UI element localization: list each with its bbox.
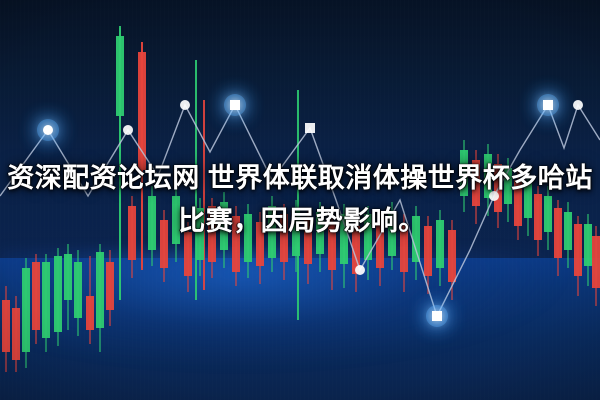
node-marker-square — [230, 100, 240, 110]
node-marker-circle — [43, 125, 53, 135]
node-network-chart — [0, 0, 600, 400]
stock-news-banner: 资深配资论坛网 世界体联取消体操世界杯多哈站 比赛，因局势影响。 — [0, 0, 600, 400]
node-marker-circle — [489, 191, 499, 201]
node-marker-circle — [573, 100, 583, 110]
node-marker-group — [37, 94, 583, 327]
node-marker-square — [432, 311, 442, 321]
zigzag-trend-line — [0, 105, 600, 316]
node-marker-circle — [123, 125, 133, 135]
node-marker-square — [543, 100, 553, 110]
node-marker-square — [305, 123, 315, 133]
node-marker-circle — [180, 100, 190, 110]
node-marker-circle — [355, 265, 365, 275]
